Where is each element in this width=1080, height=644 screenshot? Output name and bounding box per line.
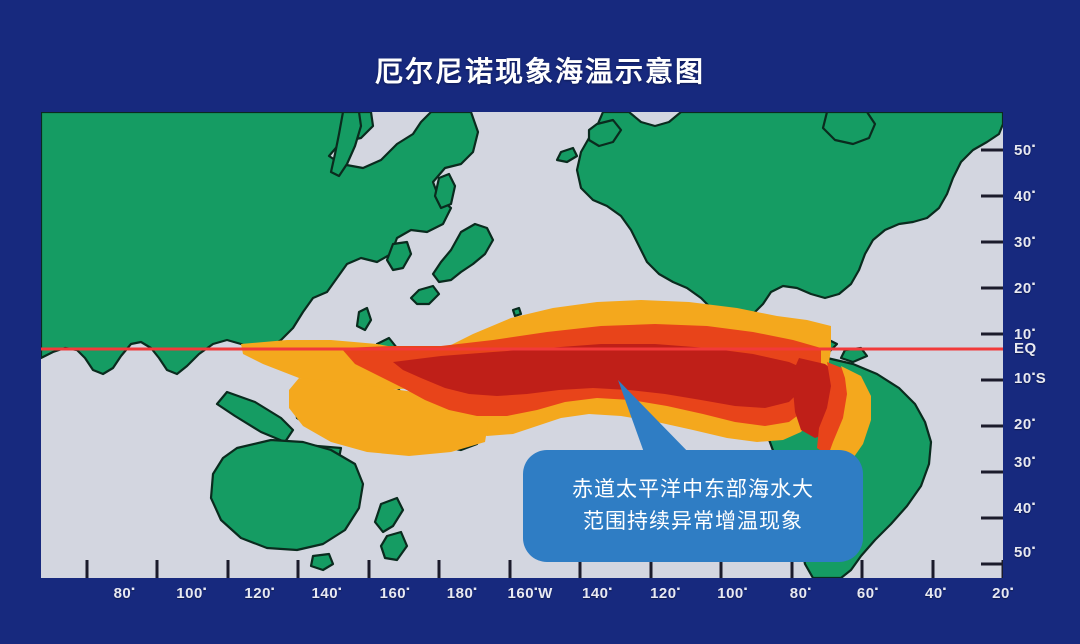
el-nino-sst-figure: 厄尔尼诺现象海温示意图 bbox=[0, 0, 1080, 644]
lon-label-12: 40▪ bbox=[925, 584, 947, 602]
lon-label-11: 60▪ bbox=[857, 584, 879, 602]
callout-line-2: 范围持续异常增温现象 bbox=[583, 509, 803, 535]
lat-label-0: 50▪ bbox=[1014, 141, 1036, 159]
callout-bubble[interactable]: 赤道太平洋中东部海水大 范围持续异常增温现象 bbox=[523, 450, 863, 562]
sakhalin-island bbox=[435, 174, 455, 208]
latitude-axis: 50▪40▪30▪20▪10▪EQ10▪S20▪30▪40▪50▪ bbox=[1006, 112, 1080, 578]
lon-label-3: 140▪ bbox=[312, 584, 343, 602]
lat-label-7: 20▪ bbox=[1014, 415, 1036, 433]
lat-label-3: 20▪ bbox=[1014, 279, 1036, 297]
callout-line-1: 赤道太平洋中东部海水大 bbox=[572, 477, 814, 503]
lon-label-7: 140▪ bbox=[582, 584, 613, 602]
page-title: 厄尔尼诺现象海温示意图 bbox=[0, 50, 1080, 90]
lon-label-0: 80▪ bbox=[114, 584, 136, 602]
lon-label-6: 160▪W bbox=[508, 584, 553, 602]
lat-label-8: 30▪ bbox=[1014, 453, 1036, 471]
lon-label-5: 180▪ bbox=[447, 584, 478, 602]
lon-label-4: 160▪ bbox=[380, 584, 411, 602]
lat-label-1: 40▪ bbox=[1014, 187, 1036, 205]
lon-label-10: 80▪ bbox=[790, 584, 812, 602]
lat-label-9: 40▪ bbox=[1014, 499, 1036, 517]
callout-pointer bbox=[590, 372, 700, 462]
hawaii-islands-small bbox=[513, 308, 521, 316]
lon-label-1: 100▪ bbox=[176, 584, 207, 602]
lat-label-5: EQ bbox=[1014, 340, 1037, 357]
lon-label-9: 100▪ bbox=[717, 584, 748, 602]
lat-label-10: 50▪ bbox=[1014, 543, 1036, 561]
longitude-axis: 80▪100▪120▪140▪160▪180▪160▪W140▪120▪100▪… bbox=[0, 584, 1080, 624]
lat-label-2: 30▪ bbox=[1014, 233, 1036, 251]
lon-label-8: 120▪ bbox=[650, 584, 681, 602]
lon-label-2: 120▪ bbox=[244, 584, 275, 602]
lat-label-6: 10▪S bbox=[1014, 369, 1046, 387]
lon-label-13: 20▪ bbox=[992, 584, 1014, 602]
